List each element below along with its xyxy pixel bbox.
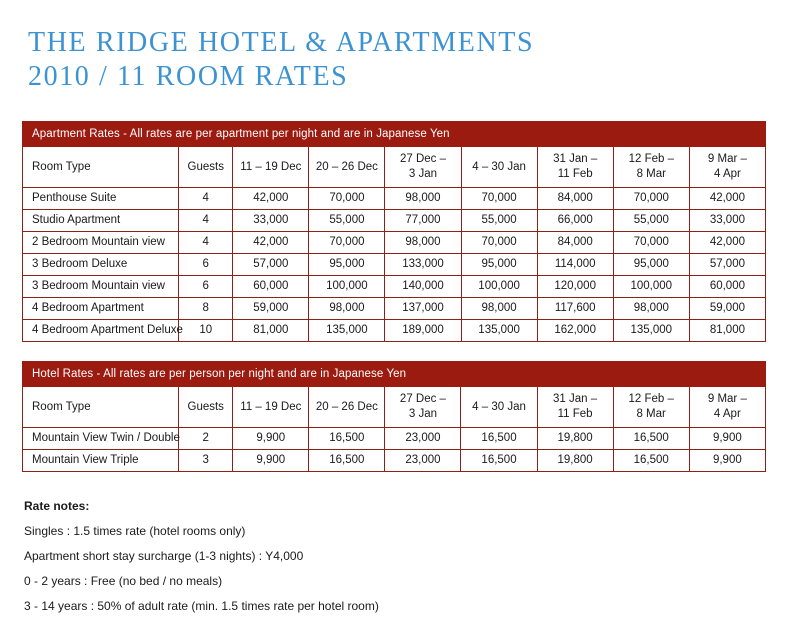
guests-cell: 6 <box>179 254 233 276</box>
table-row: Mountain View Triple39,90016,50023,00016… <box>23 450 766 472</box>
rate-cell: 60,000 <box>233 276 309 298</box>
rate-cell: 98,000 <box>461 298 537 320</box>
rate-cell: 114,000 <box>537 254 613 276</box>
rate-cell: 57,000 <box>689 254 765 276</box>
rate-cell: 33,000 <box>233 210 309 232</box>
hotel-table-band-label: Hotel Rates - All rates are per person p… <box>23 362 766 387</box>
rate-cell: 42,000 <box>233 188 309 210</box>
apartment-table-header-row: Room TypeGuests11 – 19 Dec20 – 26 Dec27 … <box>23 147 766 188</box>
column-header-31-jan-11-feb: 31 Jan –11 Feb <box>537 147 613 188</box>
table-row: 4 Bedroom Apartment Deluxe1081,000135,00… <box>23 320 766 342</box>
column-header-room-type: Room Type <box>23 387 179 428</box>
rate-cell: 16,500 <box>309 450 385 472</box>
rate-cell: 100,000 <box>461 276 537 298</box>
rate-cell: 95,000 <box>613 254 689 276</box>
rate-cell: 9,900 <box>233 428 309 450</box>
rate-cell: 95,000 <box>461 254 537 276</box>
column-header-11-19-dec: 11 – 19 Dec <box>233 147 309 188</box>
rate-cell: 55,000 <box>309 210 385 232</box>
room-type-cell: 3 Bedroom Deluxe <box>23 254 179 276</box>
rate-cell: 60,000 <box>689 276 765 298</box>
table-row: 3 Bedroom Deluxe657,00095,000133,00095,0… <box>23 254 766 276</box>
rate-cell: 19,800 <box>537 450 613 472</box>
rate-cell: 16,500 <box>613 450 689 472</box>
room-type-cell: 3 Bedroom Mountain view <box>23 276 179 298</box>
rate-note-line: 0 - 2 years : Free (no bed / no meals) <box>24 569 724 594</box>
table-row: Penthouse Suite442,00070,00098,00070,000… <box>23 188 766 210</box>
rate-cell: 84,000 <box>537 232 613 254</box>
rate-cell: 100,000 <box>613 276 689 298</box>
apartment-table-band-row: Apartment Rates - All rates are per apar… <box>23 122 766 147</box>
column-header-20-26-dec: 20 – 26 Dec <box>309 147 385 188</box>
rate-cell: 98,000 <box>613 298 689 320</box>
rate-cell: 70,000 <box>309 188 385 210</box>
rate-cell: 23,000 <box>385 428 461 450</box>
rate-cell: 57,000 <box>233 254 309 276</box>
rate-cell: 81,000 <box>233 320 309 342</box>
table-row: 2 Bedroom Mountain view442,00070,00098,0… <box>23 232 766 254</box>
rate-cell: 9,900 <box>233 450 309 472</box>
rate-cell: 133,000 <box>385 254 461 276</box>
room-type-cell: Studio Apartment <box>23 210 179 232</box>
rate-cell: 19,800 <box>537 428 613 450</box>
rate-cell: 117,600 <box>537 298 613 320</box>
rate-cell: 120,000 <box>537 276 613 298</box>
rate-cell: 70,000 <box>613 232 689 254</box>
rate-cell: 70,000 <box>613 188 689 210</box>
column-header-11-19-dec: 11 – 19 Dec <box>233 387 309 428</box>
column-header-27-dec-3-jan: 27 Dec –3 Jan <box>385 147 461 188</box>
table-row: Studio Apartment433,00055,00077,00055,00… <box>23 210 766 232</box>
guests-cell: 2 <box>179 428 233 450</box>
guests-cell: 4 <box>179 232 233 254</box>
rate-cell: 98,000 <box>385 188 461 210</box>
table-row: Mountain View Twin / Double29,90016,5002… <box>23 428 766 450</box>
table-row: 4 Bedroom Apartment859,00098,000137,0009… <box>23 298 766 320</box>
column-header-guests: Guests <box>179 147 233 188</box>
rate-cell: 16,500 <box>309 428 385 450</box>
room-type-cell: Mountain View Triple <box>23 450 179 472</box>
rate-cell: 16,500 <box>461 450 537 472</box>
rate-notes-list: Singles : 1.5 times rate (hotel rooms on… <box>24 519 724 619</box>
guests-cell: 4 <box>179 210 233 232</box>
hotel-table-header-row: Room TypeGuests11 – 19 Dec20 – 26 Dec27 … <box>23 387 766 428</box>
column-header-31-jan-11-feb: 31 Jan –11 Feb <box>537 387 613 428</box>
guests-cell: 8 <box>179 298 233 320</box>
rate-cell: 70,000 <box>461 188 537 210</box>
rate-cell: 9,900 <box>689 428 765 450</box>
guests-cell: 6 <box>179 276 233 298</box>
rate-cell: 189,000 <box>385 320 461 342</box>
hotel-table-band-row: Hotel Rates - All rates are per person p… <box>23 362 766 387</box>
rate-cell: 135,000 <box>461 320 537 342</box>
rate-sheet-page: THE RIDGE HOTEL & APARTMENTS 2010 / 11 R… <box>0 0 789 620</box>
rate-note-line: Singles : 1.5 times rate (hotel rooms on… <box>24 519 724 544</box>
rate-cell: 42,000 <box>689 188 765 210</box>
guests-cell: 4 <box>179 188 233 210</box>
room-type-cell: Mountain View Twin / Double <box>23 428 179 450</box>
rate-cell: 42,000 <box>689 232 765 254</box>
room-type-cell: 2 Bedroom Mountain view <box>23 232 179 254</box>
rate-cell: 55,000 <box>613 210 689 232</box>
rate-cell: 59,000 <box>233 298 309 320</box>
rate-cell: 55,000 <box>461 210 537 232</box>
guests-cell: 10 <box>179 320 233 342</box>
column-header-4-30-jan: 4 – 30 Jan <box>461 387 537 428</box>
rate-cell: 98,000 <box>385 232 461 254</box>
rate-cell: 16,500 <box>613 428 689 450</box>
column-header-guests: Guests <box>179 387 233 428</box>
rate-cell: 42,000 <box>233 232 309 254</box>
rate-cell: 135,000 <box>613 320 689 342</box>
apartment-rates-table: Apartment Rates - All rates are per apar… <box>22 121 766 342</box>
table-row: 3 Bedroom Mountain view660,000100,000140… <box>23 276 766 298</box>
hotel-table-body: Mountain View Twin / Double29,90016,5002… <box>23 428 766 472</box>
rate-notes-heading: Rate notes: <box>24 494 724 519</box>
room-type-cell: Penthouse Suite <box>23 188 179 210</box>
rate-cell: 33,000 <box>689 210 765 232</box>
room-type-cell: 4 Bedroom Apartment <box>23 298 179 320</box>
column-header-12-feb-8-mar: 12 Feb –8 Mar <box>613 147 689 188</box>
rate-cell: 23,000 <box>385 450 461 472</box>
column-header-9-mar-4-apr: 9 Mar –4 Apr <box>689 147 765 188</box>
rate-cell: 16,500 <box>461 428 537 450</box>
rate-cell: 66,000 <box>537 210 613 232</box>
guests-cell: 3 <box>179 450 233 472</box>
rate-cell: 70,000 <box>461 232 537 254</box>
rate-note-line: 3 - 14 years : 50% of adult rate (min. 1… <box>24 594 724 619</box>
rate-cell: 59,000 <box>689 298 765 320</box>
page-title: THE RIDGE HOTEL & APARTMENTS 2010 / 11 R… <box>28 26 748 94</box>
column-header-27-dec-3-jan: 27 Dec –3 Jan <box>385 387 461 428</box>
apartment-table-body: Penthouse Suite442,00070,00098,00070,000… <box>23 188 766 342</box>
rate-cell: 162,000 <box>537 320 613 342</box>
column-header-9-mar-4-apr: 9 Mar –4 Apr <box>689 387 765 428</box>
rate-cell: 84,000 <box>537 188 613 210</box>
rate-notes: Rate notes: Singles : 1.5 times rate (ho… <box>24 494 724 619</box>
column-header-12-feb-8-mar: 12 Feb –8 Mar <box>613 387 689 428</box>
column-header-room-type: Room Type <box>23 147 179 188</box>
rate-note-line: Apartment short stay surcharge (1-3 nigh… <box>24 544 724 569</box>
rate-cell: 140,000 <box>385 276 461 298</box>
room-type-cell: 4 Bedroom Apartment Deluxe <box>23 320 179 342</box>
column-header-4-30-jan: 4 – 30 Jan <box>461 147 537 188</box>
rate-cell: 135,000 <box>309 320 385 342</box>
rate-cell: 70,000 <box>309 232 385 254</box>
rate-cell: 9,900 <box>689 450 765 472</box>
rate-cell: 98,000 <box>309 298 385 320</box>
rate-cell: 137,000 <box>385 298 461 320</box>
page-title-line-1: THE RIDGE HOTEL & APARTMENTS <box>28 26 748 60</box>
apartment-table-band-label: Apartment Rates - All rates are per apar… <box>23 122 766 147</box>
column-header-20-26-dec: 20 – 26 Dec <box>309 387 385 428</box>
page-title-line-2: 2010 / 11 ROOM RATES <box>28 60 748 94</box>
rate-cell: 95,000 <box>309 254 385 276</box>
rate-cell: 100,000 <box>309 276 385 298</box>
rate-cell: 81,000 <box>689 320 765 342</box>
hotel-rates-table: Hotel Rates - All rates are per person p… <box>22 361 766 472</box>
rate-cell: 77,000 <box>385 210 461 232</box>
